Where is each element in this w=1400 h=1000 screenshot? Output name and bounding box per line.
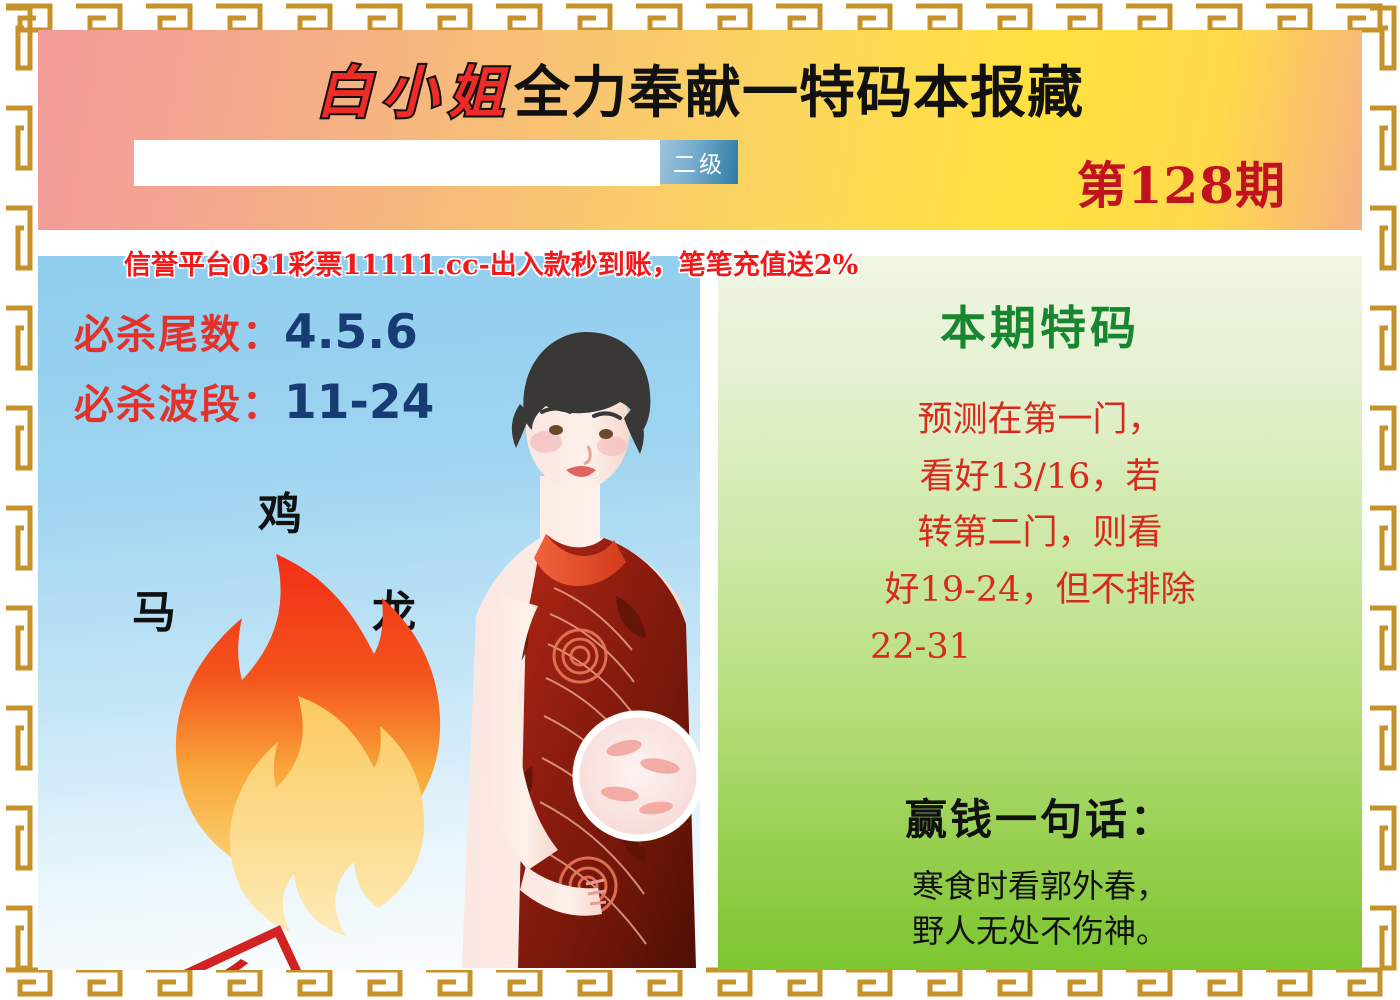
title-black-text: 全力奉献一特码本报藏 xyxy=(514,61,1084,126)
prediction-line: 好19-24，但不排除 xyxy=(718,562,1362,619)
title-red-text: 白小姐 xyxy=(316,61,514,126)
prediction-block: 预测在第一门， 看好13/16，若 转第二门，则看 好19-24，但不排除 22… xyxy=(718,392,1362,675)
prediction-line: 转第二门，则看 xyxy=(718,505,1362,562)
left-illustration-panel: 必杀尾数：4.5.6 必杀波段：11-24 鸡 马 龙 xyxy=(38,256,700,970)
poem-line: 寒食时看郭外春， xyxy=(718,864,1362,909)
kill-tail-row: 必杀尾数：4.5.6 xyxy=(74,302,418,360)
right-info-panel: 本期特码 预测在第一门， 看好13/16，若 转第二门，则看 好19-24，但不… xyxy=(718,256,1362,970)
kill-tail-value: 4.5.6 xyxy=(284,305,418,360)
prediction-line: 22-31 xyxy=(718,619,1362,676)
win-money-slogan: 赢钱一句话： xyxy=(718,786,1362,847)
right-border-icon xyxy=(1364,0,1400,1000)
qipao-woman-illustration xyxy=(428,296,700,970)
search-input[interactable] xyxy=(134,140,660,186)
left-border-icon xyxy=(0,0,36,1000)
poem-block: 寒食时看郭外春， 野人无处不伤神。 xyxy=(718,864,1362,955)
prediction-line: 预测在第一门， xyxy=(718,392,1362,449)
kill-tail-label: 必杀尾数： xyxy=(74,312,284,358)
kill-band-row: 必杀波段：11-24 xyxy=(74,372,434,430)
level-badge[interactable]: 二级 xyxy=(660,140,738,184)
issue-number: 第128期 xyxy=(1077,146,1286,218)
poster-root: 白小姐全力奉献一特码本报藏 二级 第128期 信誉平台031彩票11111.cc… xyxy=(0,0,1400,1000)
special-code-title: 本期特码 xyxy=(718,292,1362,358)
poem-line: 野人无处不伤神。 xyxy=(718,909,1362,954)
promo-text: 信誉平台031彩票11111.cc-出入款秒到账，笔笔充值送2% xyxy=(124,243,858,282)
zodiac-top: 鸡 xyxy=(258,478,302,542)
kill-band-value: 11-24 xyxy=(284,375,434,430)
prediction-line: 看好13/16，若 xyxy=(718,449,1362,506)
kill-band-label: 必杀波段： xyxy=(74,382,284,428)
header-banner: 白小姐全力奉献一特码本报藏 二级 第128期 xyxy=(38,30,1362,230)
page-title: 白小姐全力奉献一特码本报藏 xyxy=(38,48,1362,129)
input-row: 二级 xyxy=(134,140,738,184)
